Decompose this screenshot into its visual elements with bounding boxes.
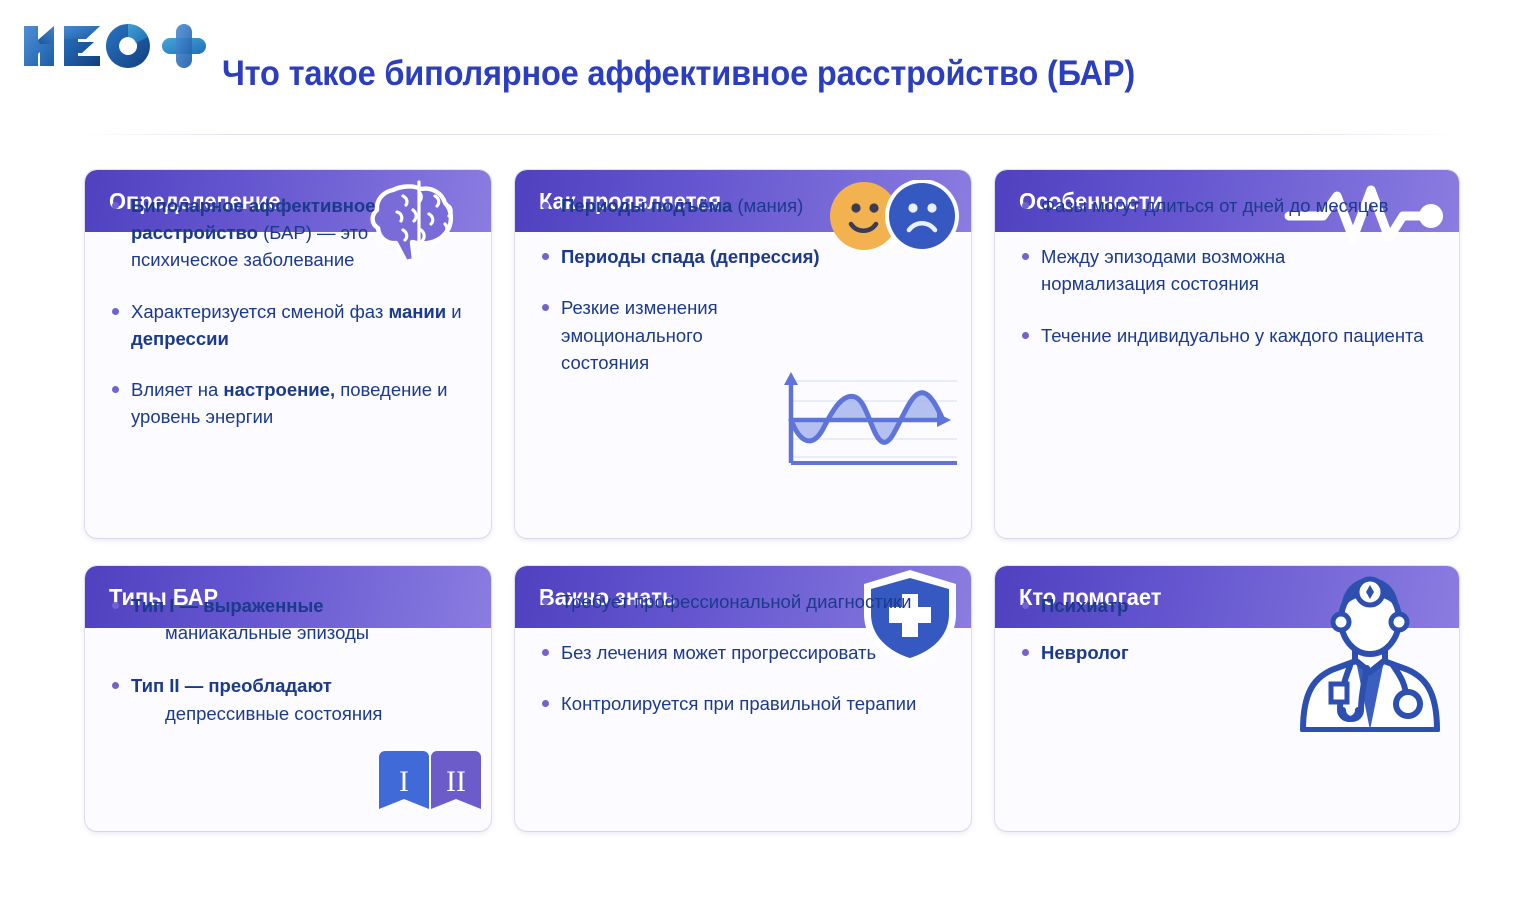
bullet-bold: мании — [389, 301, 447, 322]
list-item: Невролог — [1019, 639, 1435, 666]
bullet-text: Контролируется при правильной терапии — [561, 693, 916, 714]
list-item: Психиатр — [1019, 592, 1435, 619]
list-item: Течение индивидуально у каждого пациента — [1019, 322, 1435, 349]
bullet-bold: Психиатр — [1041, 595, 1128, 616]
card-body-manifestation: Периоды подъёма (мания) Периоды спада (д… — [515, 170, 971, 410]
bullet-list-important: Требует профессиональной диагностики Без… — [539, 588, 947, 718]
bullet-text: Между эпизодами возможна нормализация со… — [1041, 246, 1285, 294]
card-body-who-helps: Психиатр Невролог — [995, 566, 1459, 693]
card-definition: Определепение — [85, 170, 491, 538]
bullet-list-types: Тип I — выраженные маниакальные эпизоды … — [109, 592, 467, 727]
card-body-features: Фазы могут длиться от дней до месяцев Ме… — [995, 170, 1459, 383]
list-item: Биполарное аффективное расстройство (БАР… — [109, 192, 467, 274]
bullet-bold: Периоды спада (депрессия) — [561, 246, 820, 267]
title-divider — [78, 134, 1458, 135]
bullet-bold: Невролог — [1041, 642, 1129, 663]
card-body-definition: Биполарное аффективное расстройство (БАР… — [85, 170, 491, 464]
card-manifestation: Как проявляется — [515, 170, 971, 538]
card-body-important: Требует профессиональной диагностики Без… — [515, 566, 971, 752]
bullet-text: Фазы могут длиться от дней до месяцев — [1041, 195, 1388, 216]
card-features: Особенности Фазы могут длиться от дней д… — [995, 170, 1459, 538]
list-item: Периоды спада (депрессия) — [539, 243, 947, 270]
page-title: Что такое биполярное аффективное расстро… — [222, 54, 1135, 94]
list-item: Тип II — преобладают депрессивные состоя… — [109, 672, 467, 726]
infographic-page: Что такое биполярное аффективное расстро… — [0, 0, 1536, 922]
bullet-list-who-helps: Психиатр Невролог — [1019, 592, 1435, 666]
list-item: Влияет на настроение, поведение и уровен… — [109, 376, 467, 430]
bullet-text: Влияет на — [131, 379, 223, 400]
card-important: Важно знать Требует профессиональной диа… — [515, 566, 971, 831]
bullet-bold: настроение, — [223, 379, 335, 400]
bullet-subtext: маниакальные эпизоды — [131, 619, 467, 646]
list-item: Без лечения может прогрессировать — [539, 639, 947, 666]
list-item: Контролируется при правильной терапии — [539, 690, 947, 717]
bullet-subtext: депрессивные состояния — [131, 700, 467, 727]
bullet-list-definition: Биполарное аффективное расстройство (БАР… — [109, 192, 467, 430]
list-item: Требует профессиональной диагностики — [539, 588, 947, 615]
bullet-text: (мания) — [732, 195, 803, 216]
bullet-text: и — [446, 301, 461, 322]
page-header: Что такое биполярное аффективное расстро… — [0, 0, 1536, 130]
bullet-bold: депрессии — [131, 328, 229, 349]
bullet-list-features: Фазы могут длиться от дней до месяцев Ме… — [1019, 192, 1435, 349]
card-who-helps: Кто помогает — [995, 566, 1459, 831]
list-item: Между эпизодами возможна нормализация со… — [1019, 243, 1339, 297]
bullet-bold: Тип I — выраженные — [131, 595, 324, 616]
bullet-list-manifestation: Периоды подъёма (мания) Периоды спада (д… — [539, 192, 947, 376]
bullet-text: Без лечения может прогрессировать — [561, 642, 876, 663]
card-types: Типы БАР I II Тип I — выраженные маниака… — [85, 566, 491, 831]
list-item: Фазы могут длиться от дней до месяцев — [1019, 192, 1435, 219]
bullet-text: Резкие изменения эмоционального состояни… — [561, 297, 718, 372]
list-item: Характеризуется сменой фаз мании и депре… — [109, 298, 467, 352]
bullet-text: Требует профессиональной диагностики — [561, 591, 911, 612]
list-item: Тип I — выраженные маниакальные эпизоды — [109, 592, 467, 646]
neo-plus-logo — [18, 18, 208, 74]
list-item: Периоды подъёма (мания) — [539, 192, 947, 219]
bullet-text: Течение индивидуально у каждого пациента — [1041, 325, 1424, 346]
cards-grid: Определепение — [85, 170, 1457, 831]
bullet-bold: Периоды подъёма — [561, 195, 732, 216]
list-item: Резкие изменения эмоционального состояни… — [539, 294, 789, 376]
card-body-types: Тип I — выраженные маниакальные эпизоды … — [85, 566, 491, 754]
bullet-text: Характеризуется сменой фаз — [131, 301, 389, 322]
bullet-bold: Тип II — преобладают — [131, 675, 332, 696]
